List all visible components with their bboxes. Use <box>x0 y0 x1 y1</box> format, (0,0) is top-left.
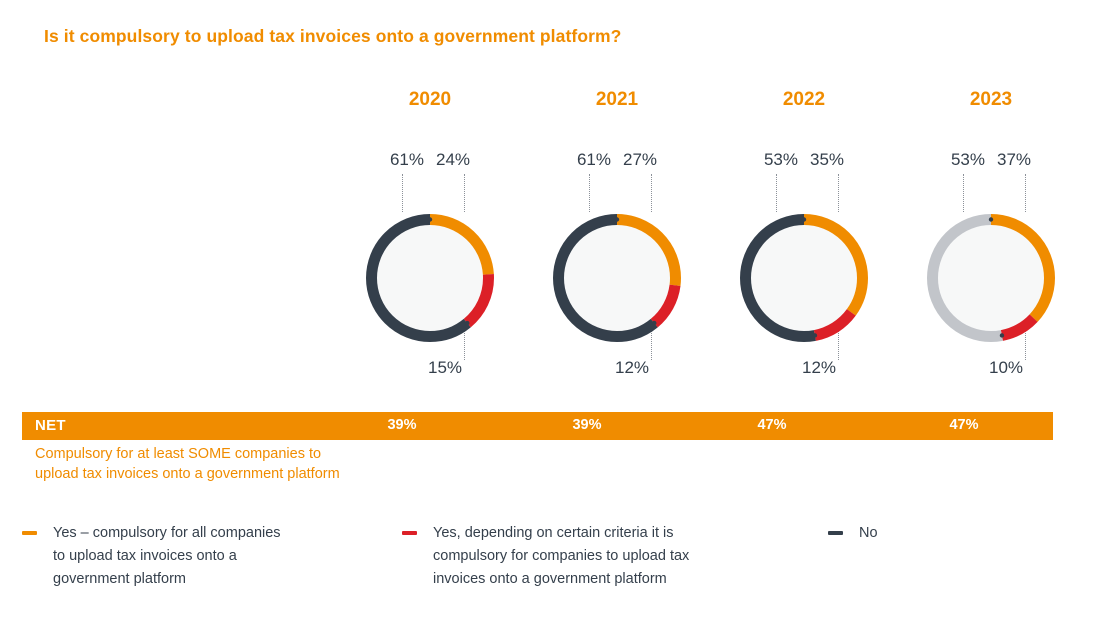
year-label-2023: 2023 <box>901 89 1081 111</box>
percent-label-yes-criteria: 12% <box>615 358 695 378</box>
net-bar-label: NET <box>35 417 66 434</box>
leader-line-right <box>1025 174 1026 212</box>
percent-label-yes-criteria: 12% <box>802 358 882 378</box>
legend-label-line: compulsory for companies to upload tax <box>433 545 689 568</box>
connector-dot-yes-all-start <box>802 217 806 221</box>
net-value-2022: 47% <box>712 417 832 433</box>
net-value-2021: 39% <box>527 417 647 433</box>
percent-label-yes-criteria: 10% <box>989 358 1069 378</box>
legend-label-line: Yes – compulsory for all companies <box>53 522 281 545</box>
leader-line-left <box>589 174 590 212</box>
legend-swatch-icon-no <box>828 531 843 535</box>
connector-dot-yes-all-start <box>615 217 619 221</box>
connector-dot-yes-all-start <box>428 217 432 221</box>
legend-label-line: invoices onto a government platform <box>433 568 689 591</box>
connector-dot-no-start <box>813 333 817 337</box>
percent-label-yes-criteria: 15% <box>428 358 508 378</box>
net-bar: NET 39% 39% 47% 47% <box>22 412 1053 440</box>
net-value-2023: 47% <box>904 417 1024 433</box>
percent-label-yes-all: 27% <box>623 150 703 170</box>
leader-line-left <box>402 174 403 212</box>
legend-label-line: government platform <box>53 568 281 591</box>
connector-dot-no-start <box>1000 333 1004 337</box>
legend-swatch-icon-yes-criteria <box>402 531 417 535</box>
donut-2023 <box>922 209 1060 347</box>
connector-dot-no-start <box>652 321 656 325</box>
year-label-2020: 2020 <box>340 89 520 111</box>
net-description-line-2: upload tax invoices onto a government pl… <box>35 464 465 484</box>
donut-2022 <box>735 209 873 347</box>
percent-label-no: 61% <box>531 150 611 170</box>
percent-label-yes-all: 37% <box>997 150 1077 170</box>
leader-line-left <box>776 174 777 212</box>
donut-panel-2022: 202253%35%12% <box>714 0 894 400</box>
year-label-2021: 2021 <box>527 89 707 111</box>
leader-line-left <box>963 174 964 212</box>
donut-2020 <box>361 209 499 347</box>
net-description-line-1: Compulsory for at least SOME companies t… <box>35 444 465 464</box>
legend-label-yes-all: Yes – compulsory for all companies to up… <box>53 522 281 591</box>
year-label-2022: 2022 <box>714 89 894 111</box>
leader-line-right <box>464 174 465 212</box>
net-value-2020: 39% <box>342 417 462 433</box>
legend-swatch-icon-yes-all <box>22 531 37 535</box>
donut-panel-2020: 202061%24%15% <box>340 0 520 400</box>
percent-label-yes-all: 24% <box>436 150 516 170</box>
donut-2021 <box>548 209 686 347</box>
leader-line-right <box>838 174 839 212</box>
legend-label-line: No <box>859 522 878 545</box>
legend-label-line: Yes, depending on certain criteria it is <box>433 522 689 545</box>
donut-panel-2021: 202161%27%12% <box>527 0 707 400</box>
legend-label-yes-criteria: Yes, depending on certain criteria it is… <box>433 522 689 591</box>
legend-label-no: No <box>859 522 878 545</box>
percent-label-no: 61% <box>344 150 424 170</box>
net-description: Compulsory for at least SOME companies t… <box>35 444 465 484</box>
donut-panel-2023: 202353%37%10% <box>901 0 1081 400</box>
percent-label-no: 53% <box>718 150 798 170</box>
percent-label-yes-all: 35% <box>810 150 890 170</box>
connector-dot-yes-all-start <box>989 217 993 221</box>
percent-label-no: 53% <box>905 150 985 170</box>
legend-label-line: to upload tax invoices onto a <box>53 545 281 568</box>
leader-line-right <box>651 174 652 212</box>
chart-legend: Yes – compulsory for all companies to up… <box>0 520 1103 620</box>
connector-dot-no-start <box>465 321 469 325</box>
